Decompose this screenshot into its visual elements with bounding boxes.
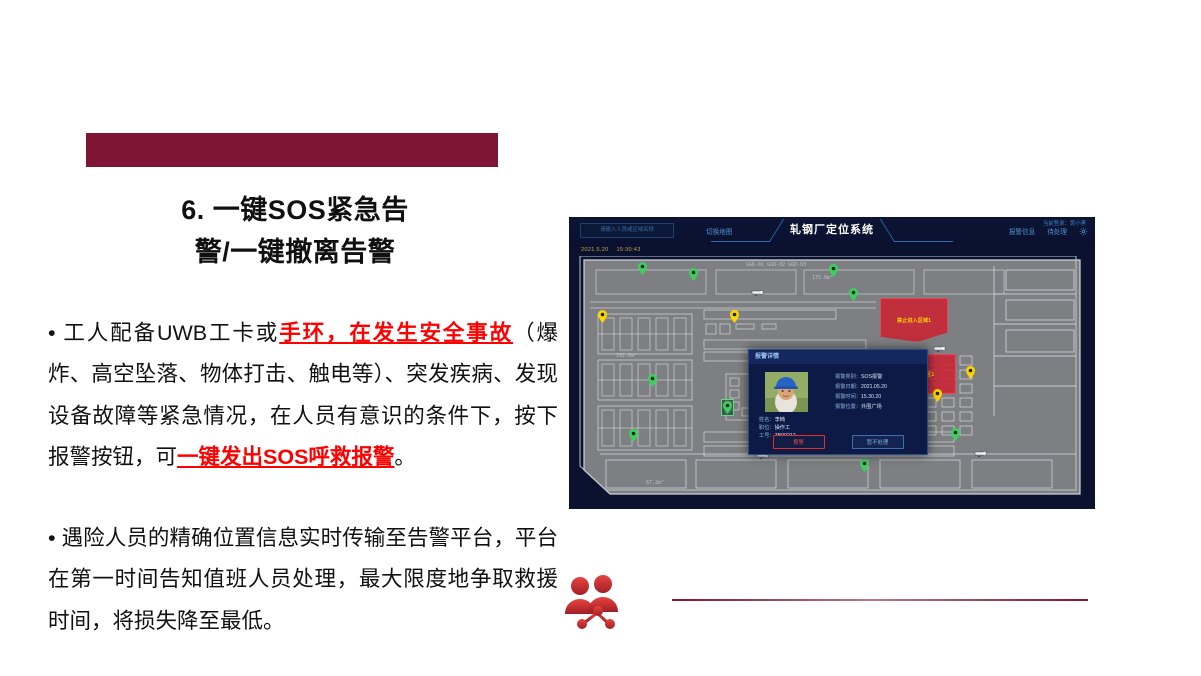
map-pin-normal-13[interactable]: [951, 428, 960, 441]
paragraph-2-text: 遇险人员的精确位置信息实时传输至告警平台，平台在第一时间告知值班人员处理，最大限…: [48, 526, 558, 633]
factory-map[interactable]: GGD-01 GGD-02 GGD-03 175.8m² 162.6m² 67.…: [576, 256, 1088, 502]
bullet-1: •: [48, 321, 56, 345]
camera-icon-0[interactable]: [751, 283, 764, 290]
app-screenshot: 请输入人员或区域名称 切换地图 轧钢厂定位系统 当前登录：黄小黑 报警信息 待处…: [570, 218, 1094, 508]
paragraph-1-highlight-1: 手环，在发生安全事故: [279, 321, 513, 345]
map-pin-normal-10[interactable]: [860, 459, 869, 472]
title-accent-bar: [86, 133, 498, 167]
worker-role-row: 职位：操作工: [759, 424, 796, 432]
worker-photo: [765, 372, 808, 412]
paragraph-1-highlight-2: 一键发出SOS呼救报警: [177, 445, 394, 469]
header-datetime: 2021.5.20 15:30:43: [581, 247, 641, 253]
map-pin-warning-4[interactable]: [598, 310, 607, 323]
people-share-icon: [562, 572, 628, 630]
worker-name-row: 姓名：李楠: [759, 416, 796, 424]
paragraph-1-seg-1: 工人配备UWB工卡或: [56, 321, 280, 345]
alarm-location-label: 报警位置：: [835, 404, 861, 410]
camera-icon-3[interactable]: [974, 444, 987, 451]
alarm-type-label: 报警类别：: [835, 374, 861, 380]
map-pin-normal-7[interactable]: [629, 429, 638, 442]
alarm-date-row: 报警日期：2021.05.20: [835, 382, 887, 392]
svg-text:GGD-01 GGD-02 GGD-03: GGD-01 GGD-02 GGD-03: [746, 262, 806, 268]
restricted-zone-1[interactable]: 禁止进入区域1: [880, 298, 948, 342]
svg-text:162.6m²: 162.6m²: [616, 353, 637, 359]
alarm-detail-dialog[interactable]: 报警详情: [748, 349, 928, 455]
app-header: 请输入人员或区域名称 切换地图 轧钢厂定位系统 当前登录：黄小黑 报警信息 待处…: [570, 218, 1094, 245]
worker-role-value: 操作工: [775, 425, 791, 431]
page-title-line-1: 6. 一键SOS紧急告: [55, 190, 535, 232]
svg-text:67.2m²: 67.2m²: [646, 480, 664, 486]
map-pin-normal-1[interactable]: [689, 268, 698, 281]
alarm-type-value: SOS报警: [861, 374, 882, 380]
map-pin-normal-8[interactable]: [722, 400, 733, 415]
header-date: 2021.5.20: [581, 247, 609, 253]
worker-name-value: 李楠: [775, 417, 785, 423]
dismiss-button[interactable]: 暂不处理: [852, 435, 904, 449]
camera-icon-2[interactable]: [933, 339, 946, 346]
paragraph-1-seg-5: 。: [394, 445, 416, 469]
footer-divider: [672, 599, 1088, 601]
gear-icon[interactable]: [1079, 227, 1088, 236]
body-paragraph-1: • 工人配备UWB工卡或手环，在发生安全事故（爆炸、高空坠落、物体打击、触电等）…: [48, 313, 558, 478]
alarm-time-value: 15.30.20: [861, 394, 881, 400]
page-title: 6. 一键SOS紧急告 警/一键撤离告警: [55, 190, 535, 274]
dialog-title: 报警详情: [749, 350, 927, 364]
alarm-time-row: 报警时间：15.30.20: [835, 392, 887, 402]
alarm-location-row: 报警位置：外围广场: [835, 402, 887, 412]
dialog-body: 姓名：李楠 职位：操作工 工号：TB00212 报警类别：SOS报警 报警日期：…: [749, 364, 927, 454]
pending-link[interactable]: 待处理: [1047, 226, 1067, 236]
page-title-line-2: 警/一键撤离告警: [55, 232, 535, 274]
bullet-2: •: [48, 526, 56, 550]
alarm-location-value: 外围广场: [861, 404, 882, 410]
body-paragraph-2: • 遇险人员的精确位置信息实时传输至告警平台，平台在第一时间告知值班人员处理，最…: [48, 518, 558, 642]
map-pin-normal-6[interactable]: [648, 374, 657, 387]
alarm-date-value: 2021.05.20: [861, 384, 887, 390]
map-pin-normal-2[interactable]: [829, 264, 838, 277]
map-pin-warning-5[interactable]: [730, 310, 739, 323]
alarm-button[interactable]: 报警: [773, 435, 825, 449]
map-pin-warning-12[interactable]: [933, 389, 942, 402]
dialog-actions: 报警 暂不处理: [749, 435, 927, 449]
header-actions: 报警信息 待处理: [1009, 226, 1088, 236]
worker-name-label: 姓名：: [759, 417, 775, 423]
header-time: 15:30:43: [616, 247, 640, 253]
map-pin-normal-3[interactable]: [849, 288, 858, 301]
alarm-time-label: 报警时间：: [835, 394, 861, 400]
map-pin-normal-0[interactable]: [638, 262, 647, 275]
map-pin-warning-11[interactable]: [966, 366, 975, 379]
alarm-fields: 报警类别：SOS报警 报警日期：2021.05.20 报警时间：15.30.20…: [835, 372, 887, 413]
alarm-type-row: 报警类别：SOS报警: [835, 372, 887, 382]
worker-role-label: 职位：: [759, 425, 775, 431]
alarm-info-link[interactable]: 报警信息: [1009, 226, 1035, 236]
alarm-date-label: 报警日期：: [835, 384, 861, 390]
